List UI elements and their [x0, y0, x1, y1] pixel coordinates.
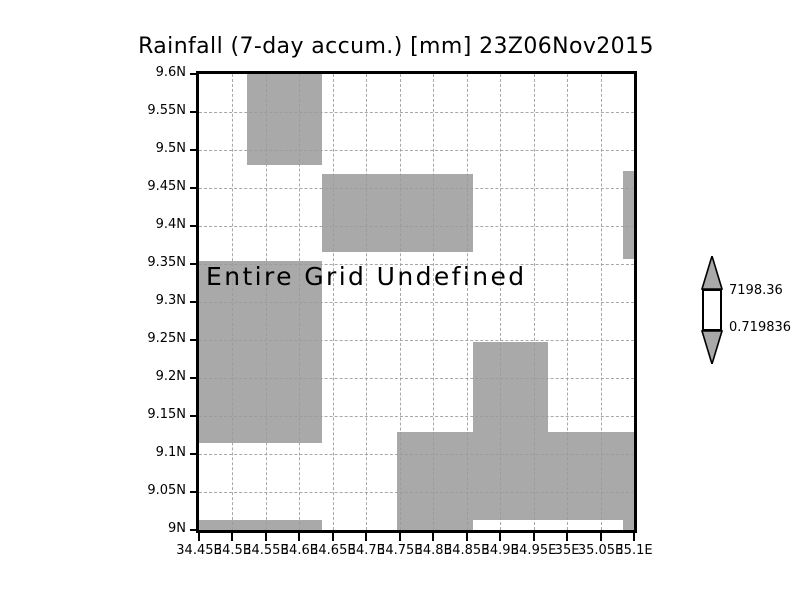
y-axis-tick: [190, 263, 197, 265]
x-axis-tick: [566, 533, 568, 541]
x-axis-label: 34.95E: [511, 543, 556, 558]
plot-canvas: Rainfall (7-day accum.) [mm] 23Z06Nov201…: [0, 0, 792, 612]
grid-line-horizontal: [199, 416, 634, 418]
mask-block: [473, 342, 548, 432]
mask-block: [623, 520, 634, 530]
grid-line-horizontal: [199, 112, 634, 114]
plot-area: [199, 74, 634, 530]
mask-block: [199, 520, 322, 530]
y-axis-tick: [190, 453, 197, 455]
plot-frame: [196, 71, 637, 533]
y-axis-tick: [190, 73, 197, 75]
grid-line-horizontal: [199, 454, 634, 456]
x-axis-tick: [533, 533, 535, 541]
y-axis-tick: [190, 187, 197, 189]
y-axis-tick: [190, 301, 197, 303]
y-axis-label: 9N: [168, 521, 186, 536]
mask-block: [322, 174, 473, 252]
y-axis-label: 9.15N: [147, 407, 186, 422]
x-axis-tick: [198, 533, 200, 541]
y-axis-tick: [190, 529, 197, 531]
colorbar-low-label: 0.719836: [729, 320, 791, 335]
y-axis-tick: [190, 491, 197, 493]
x-axis-tick: [365, 533, 367, 541]
x-axis-tick: [466, 533, 468, 541]
y-axis-tick: [190, 415, 197, 417]
y-axis-label: 9.1N: [156, 445, 186, 460]
grid-line-horizontal: [199, 226, 634, 228]
y-axis-tick: [190, 339, 197, 341]
grid-line-horizontal: [199, 378, 634, 380]
y-axis-label: 9.05N: [147, 483, 186, 498]
y-axis-label: 9.4N: [156, 217, 186, 232]
mask-block: [623, 171, 634, 259]
y-axis-tick: [190, 377, 197, 379]
grid-line-horizontal: [199, 492, 634, 494]
grid-line-horizontal: [199, 150, 634, 152]
y-axis-label: 9.25N: [147, 331, 186, 346]
y-axis-tick: [190, 111, 197, 113]
y-axis-label: 9.6N: [156, 65, 186, 80]
colorbar-mid-box: [702, 289, 722, 331]
y-axis-label: 9.2N: [156, 369, 186, 384]
y-axis-tick: [190, 149, 197, 151]
x-axis-tick: [399, 533, 401, 541]
grid-line-horizontal: [199, 188, 634, 190]
x-axis-label: 35.1E: [615, 543, 652, 558]
undefined-grid-message: Entire Grid Undefined: [206, 262, 527, 291]
x-axis-tick: [600, 533, 602, 541]
grid-line-horizontal: [199, 302, 634, 304]
y-axis-label: 9.55N: [147, 103, 186, 118]
x-axis-tick: [432, 533, 434, 541]
x-axis-tick: [298, 533, 300, 541]
colorbar-high-label: 7198.36: [729, 283, 783, 298]
x-axis-tick: [265, 533, 267, 541]
y-axis-label: 9.35N: [147, 255, 186, 270]
y-axis-label: 9.3N: [156, 293, 186, 308]
x-axis-tick: [499, 533, 501, 541]
x-axis-label: 35E: [555, 543, 580, 558]
grid-line-horizontal: [199, 340, 634, 342]
x-axis-tick: [633, 533, 635, 541]
y-axis-label: 9.5N: [156, 141, 186, 156]
colorbar: 7198.36 0.719836: [699, 256, 725, 364]
x-axis-tick: [231, 533, 233, 541]
y-axis-label: 9.45N: [147, 179, 186, 194]
y-axis-tick: [190, 225, 197, 227]
x-axis-tick: [332, 533, 334, 541]
chart-title: Rainfall (7-day accum.) [mm] 23Z06Nov201…: [0, 34, 792, 59]
